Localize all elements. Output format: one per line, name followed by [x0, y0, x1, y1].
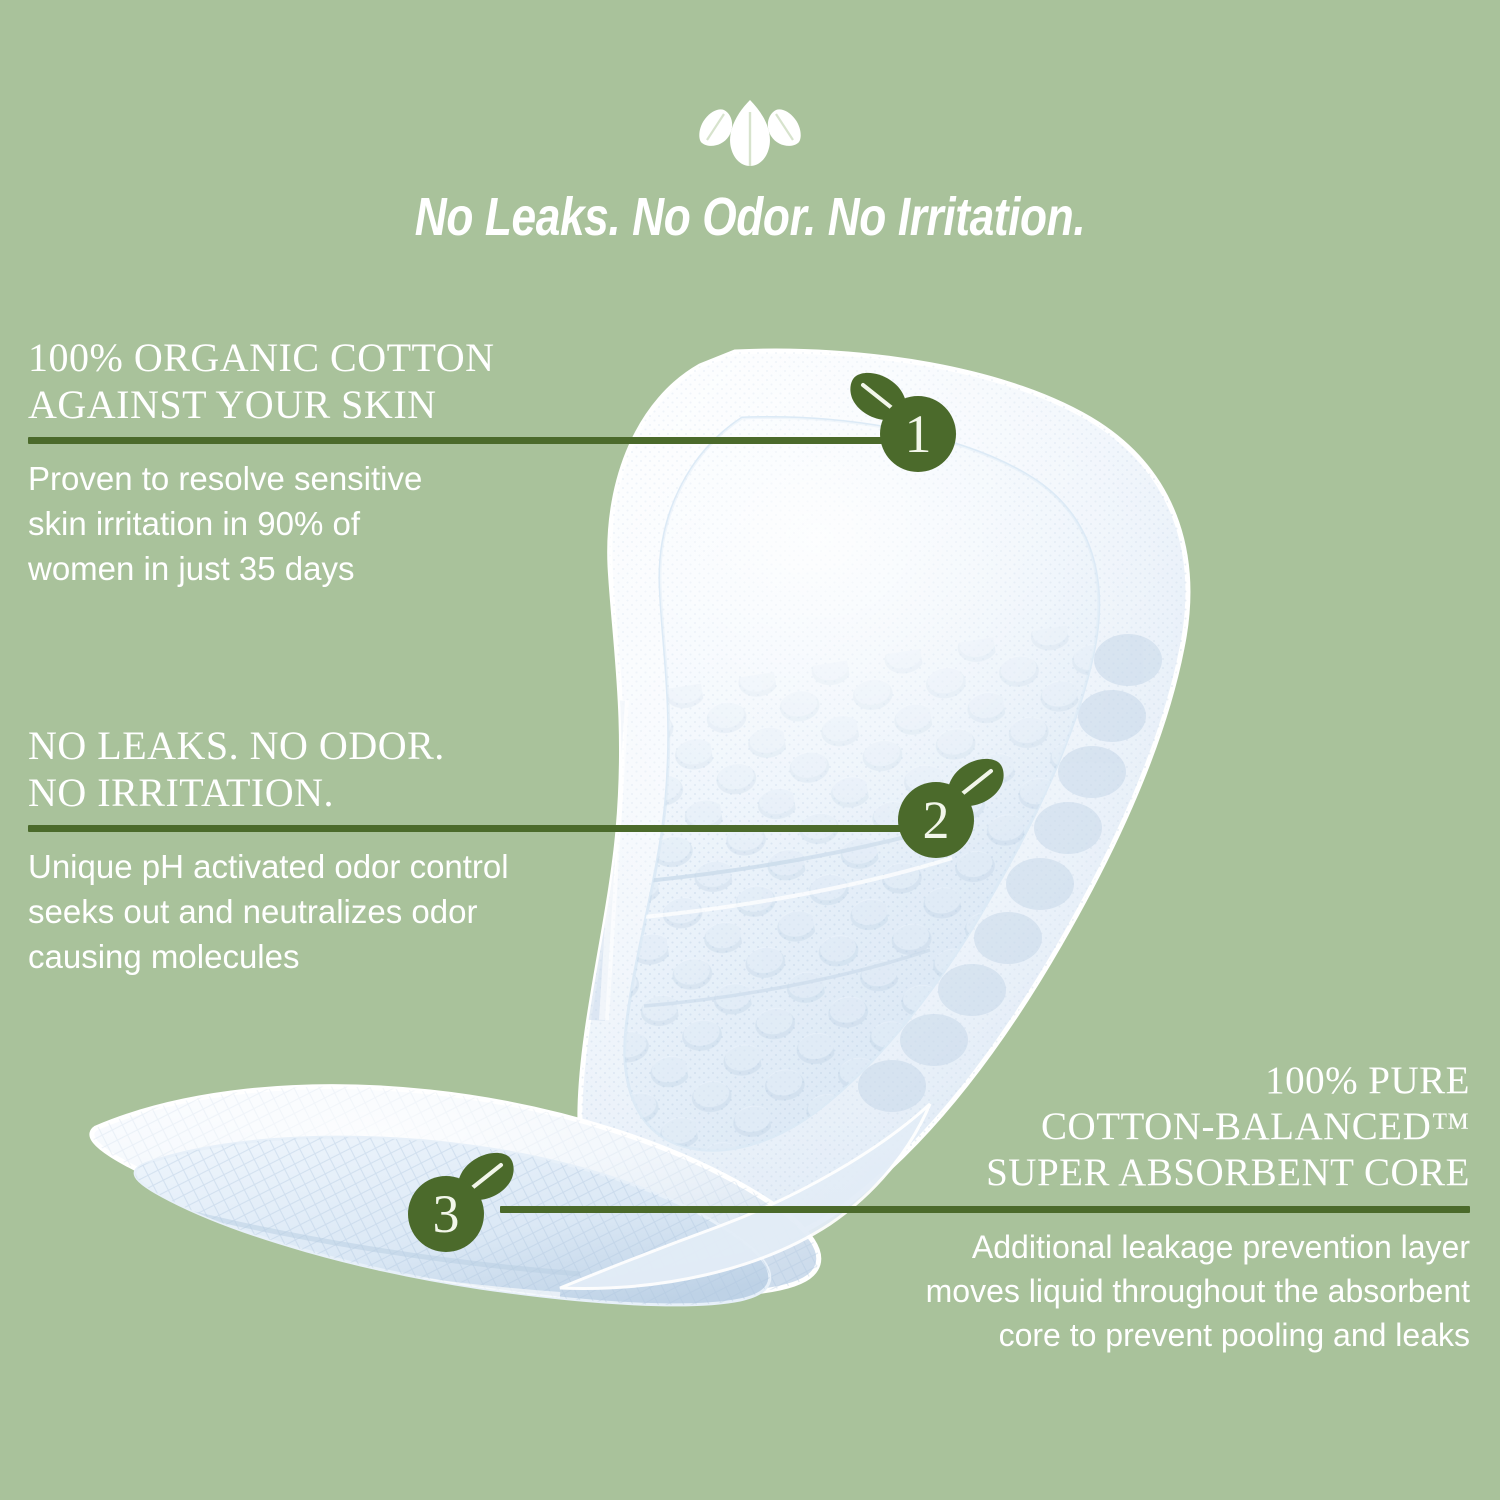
feature-3-title: 100% PURE COTTON-BALANCED™ SUPER ABSORBE… [500, 1058, 1470, 1196]
badge-2-number: 2 [923, 790, 950, 850]
callout-badge-1: 1 [846, 372, 964, 476]
infographic-canvas: No Leaks. No Odor. No Irritation. 100% O… [0, 0, 1500, 1500]
callout-badge-3: 3 [400, 1152, 518, 1256]
feature-1-title: 100% ORGANIC COTTON AGAINST YOUR SKIN [28, 334, 588, 428]
page-headline: No Leaks. No Odor. No Irritation. [135, 186, 1365, 248]
feature-3-body: Additional leakage prevention layer move… [500, 1225, 1470, 1357]
badge-1-number: 1 [905, 404, 932, 464]
feature-block-2: NO LEAKS. NO ODOR. NO IRRITATION. Unique… [28, 722, 946, 979]
feature-2-divider [28, 825, 946, 832]
callout-badge-2: 2 [890, 758, 1008, 862]
feature-2-body: Unique pH activated odor control seeks o… [28, 844, 648, 979]
feature-3-divider [500, 1206, 1470, 1213]
feature-2-title: NO LEAKS. NO ODOR. NO IRRITATION. [28, 722, 628, 816]
badge-3-number: 3 [433, 1184, 460, 1244]
three-leaves-icon [694, 96, 806, 168]
brand-logo [0, 96, 1500, 173]
feature-1-body: Proven to resolve sensitive skin irritat… [28, 456, 548, 591]
feature-1-divider [28, 437, 938, 444]
feature-block-3: 100% PURE COTTON-BALANCED™ SUPER ABSORBE… [500, 1058, 1470, 1357]
feature-block-1: 100% ORGANIC COTTON AGAINST YOUR SKIN Pr… [28, 334, 938, 591]
